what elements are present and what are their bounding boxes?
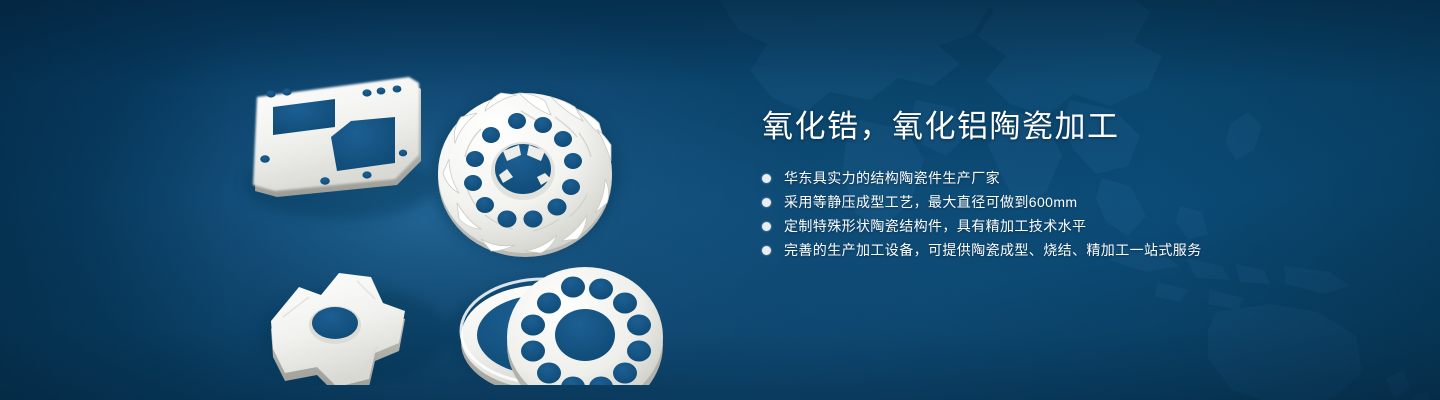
- bullet-dot-icon: [762, 174, 771, 183]
- list-item: 完善的生产加工设备，可提供陶瓷成型、烧结、精加工一站式服务: [762, 239, 1382, 262]
- feature-text: 华东具实力的结构陶瓷件生产厂家: [784, 167, 1000, 190]
- list-item: 采用等静压成型工艺，最大直径可做到600mm: [762, 191, 1382, 214]
- ceramic-hole-disc: [507, 267, 663, 385]
- feature-text: 完善的生产加工设备，可提供陶瓷成型、烧结、精加工一站式服务: [784, 239, 1202, 262]
- list-item: 定制特殊形状陶瓷结构件，具有精加工技术水平: [762, 215, 1382, 238]
- hero-banner: 氧化锆，氧化铝陶瓷加工 华东具实力的结构陶瓷件生产厂家 采用等静压成型工艺，最大…: [0, 0, 1440, 400]
- bullet-dot-icon: [762, 246, 771, 255]
- ceramic-impeller: [438, 93, 612, 257]
- bullet-dot-icon: [762, 198, 771, 207]
- feature-list: 华东具实力的结构陶瓷件生产厂家 采用等静压成型工艺，最大直径可做到600mm 定…: [762, 167, 1382, 262]
- feature-text: 采用等静压成型工艺，最大直径可做到600mm: [784, 191, 1077, 214]
- banner-headline: 氧化锆，氧化铝陶瓷加工: [762, 108, 1382, 147]
- bullet-dot-icon: [762, 222, 771, 231]
- feature-text: 定制特殊形状陶瓷结构件，具有精加工技术水平: [784, 215, 1086, 238]
- ceramic-flat-plate: [253, 77, 421, 197]
- list-item: 华东具实力的结构陶瓷件生产厂家: [762, 167, 1382, 190]
- banner-copy: 氧化锆，氧化铝陶瓷加工 华东具实力的结构陶瓷件生产厂家 采用等静压成型工艺，最大…: [762, 108, 1382, 263]
- product-photo-group: [225, 45, 725, 385]
